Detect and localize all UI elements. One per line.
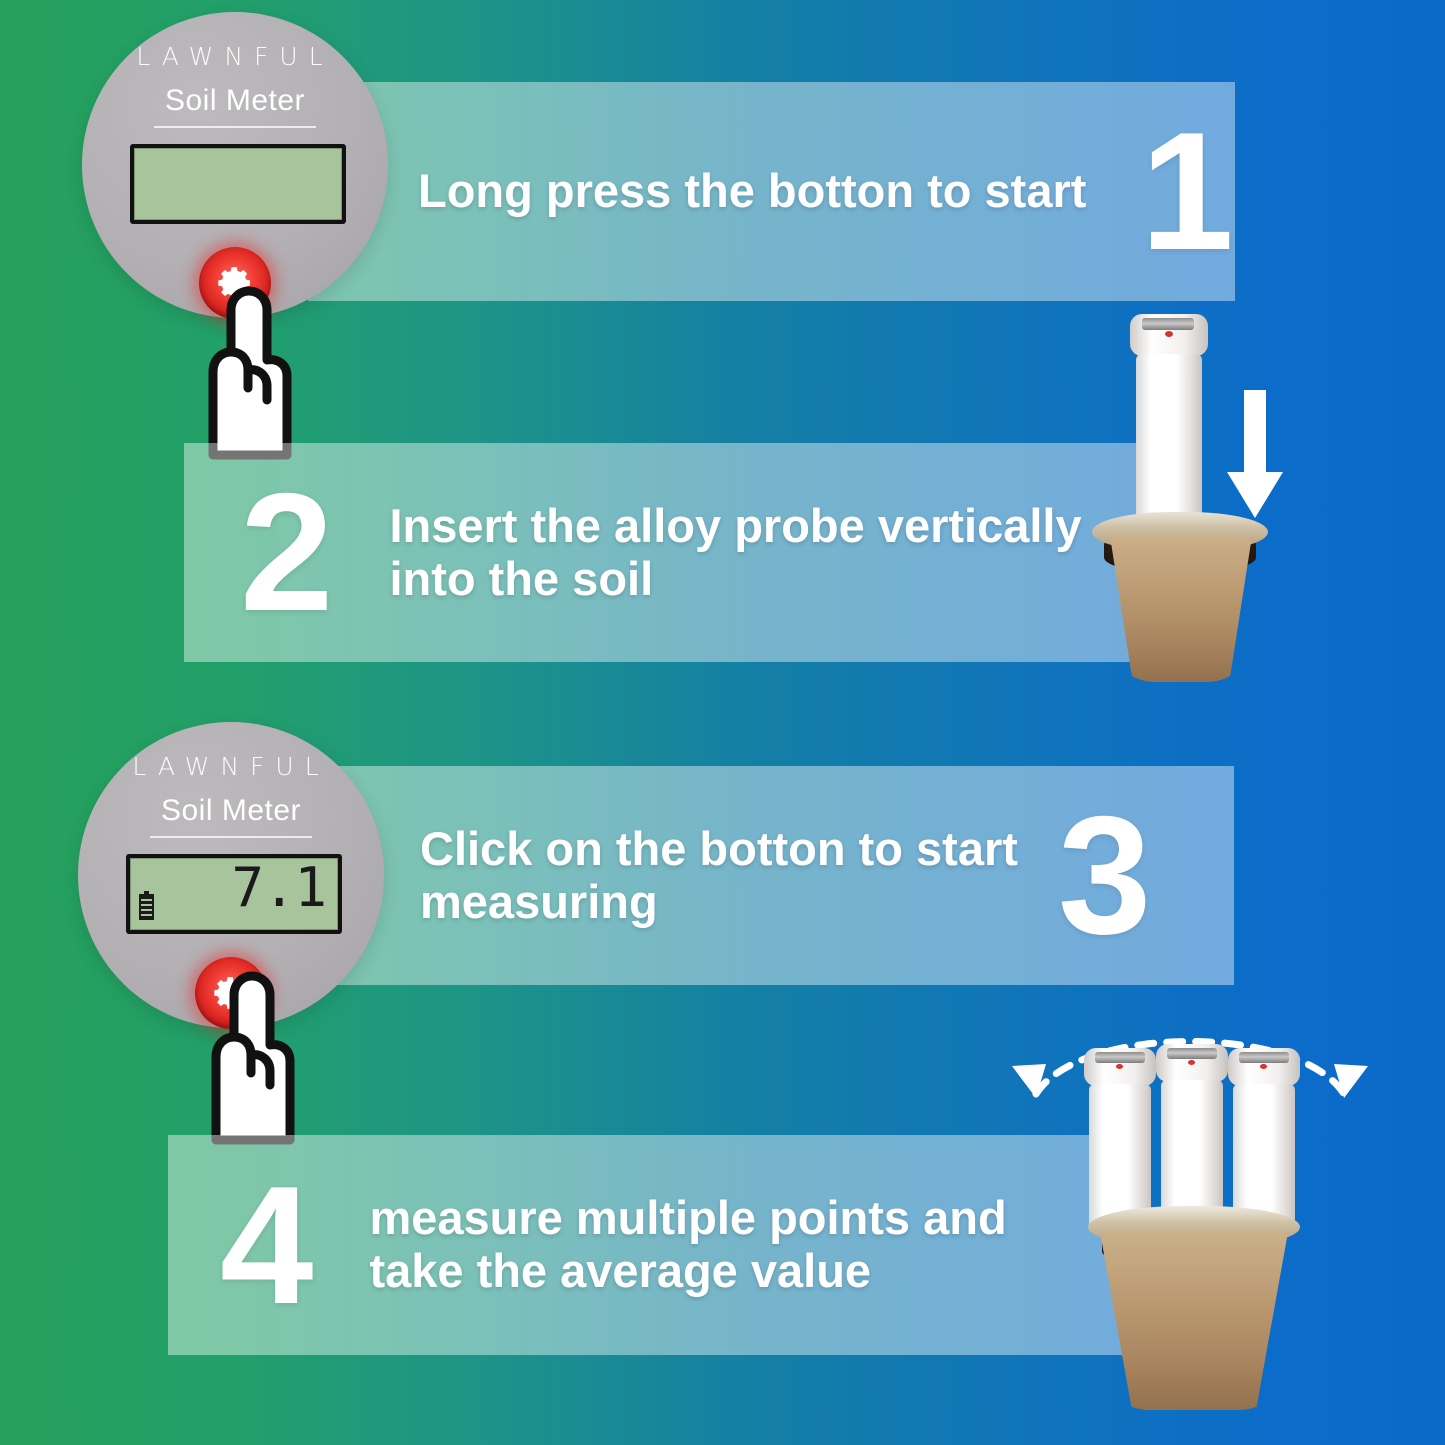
probe-indicator-dot [1260, 1064, 1267, 1069]
step-2-text-block: Insert the alloy probe vertically into t… [331, 500, 1069, 605]
lcd-reading-2: 7.1 [231, 860, 326, 917]
step-4-text-line2: take the average value [369, 1245, 989, 1298]
infographic-canvas: Long press the botton to start 1 LAWNFUL… [0, 0, 1445, 1445]
device-lcd-screen-1 [130, 144, 346, 224]
down-arrow-icon [1220, 390, 1290, 525]
pointing-hand-cursor-1 [175, 280, 325, 460]
step-4-number: 4 [220, 1173, 311, 1317]
probe-display [1167, 1048, 1217, 1059]
pot-body [1110, 536, 1252, 682]
device-brand-label: LAWNFUL [82, 42, 388, 71]
device-divider [154, 126, 316, 128]
pointing-hand-cursor-2 [178, 965, 328, 1145]
step-2-number: 2 [240, 480, 331, 624]
probe-display [1142, 318, 1194, 330]
soil-meter-device-1: LAWNFUL Soil Meter [82, 12, 388, 318]
step-3-text-line2: measuring [420, 876, 1018, 929]
device-divider-2 [150, 836, 312, 838]
step-3-text-line1: Click on the botton to start [420, 823, 1018, 876]
probe-in-pot-illustration [1080, 300, 1380, 700]
device-model-label-2: Soil Meter [78, 794, 384, 828]
probe-body [1136, 354, 1202, 534]
step-1-number: 1 [1140, 119, 1231, 263]
step-3-number: 3 [1058, 803, 1149, 947]
step-4-text-block: measure multiple points and take the ave… [311, 1192, 989, 1297]
step-band-2: 2 Insert the alloy probe vertically into… [184, 443, 1140, 662]
probe-display [1095, 1052, 1145, 1063]
device-brand-label-2: LAWNFUL [78, 752, 384, 781]
battery-icon [139, 894, 154, 920]
pot-body [1100, 1232, 1288, 1410]
device-lcd-screen-2: 7.1 [126, 854, 342, 934]
three-probes-in-pot-illustration [990, 1010, 1390, 1440]
step-1-text: Long press the botton to start [418, 165, 1086, 218]
step-band-3: Click on the botton to start measuring 3 [300, 766, 1234, 985]
step-3-text-block: Click on the botton to start measuring [300, 823, 1018, 928]
probe-display [1239, 1052, 1289, 1063]
probe-indicator-dot [1188, 1060, 1195, 1065]
step-2-text-line1: Insert the alloy probe vertically [389, 500, 1069, 553]
step-band-1: Long press the botton to start 1 [308, 82, 1235, 301]
step-2-text-line2: into the soil [389, 553, 1069, 606]
probe-indicator-dot [1165, 331, 1173, 337]
step-4-text-line1: measure multiple points and [369, 1192, 989, 1245]
device-model-label: Soil Meter [82, 84, 388, 118]
probe-indicator-dot [1116, 1064, 1123, 1069]
step-band-4: 4 measure multiple points and take the a… [168, 1135, 1126, 1355]
